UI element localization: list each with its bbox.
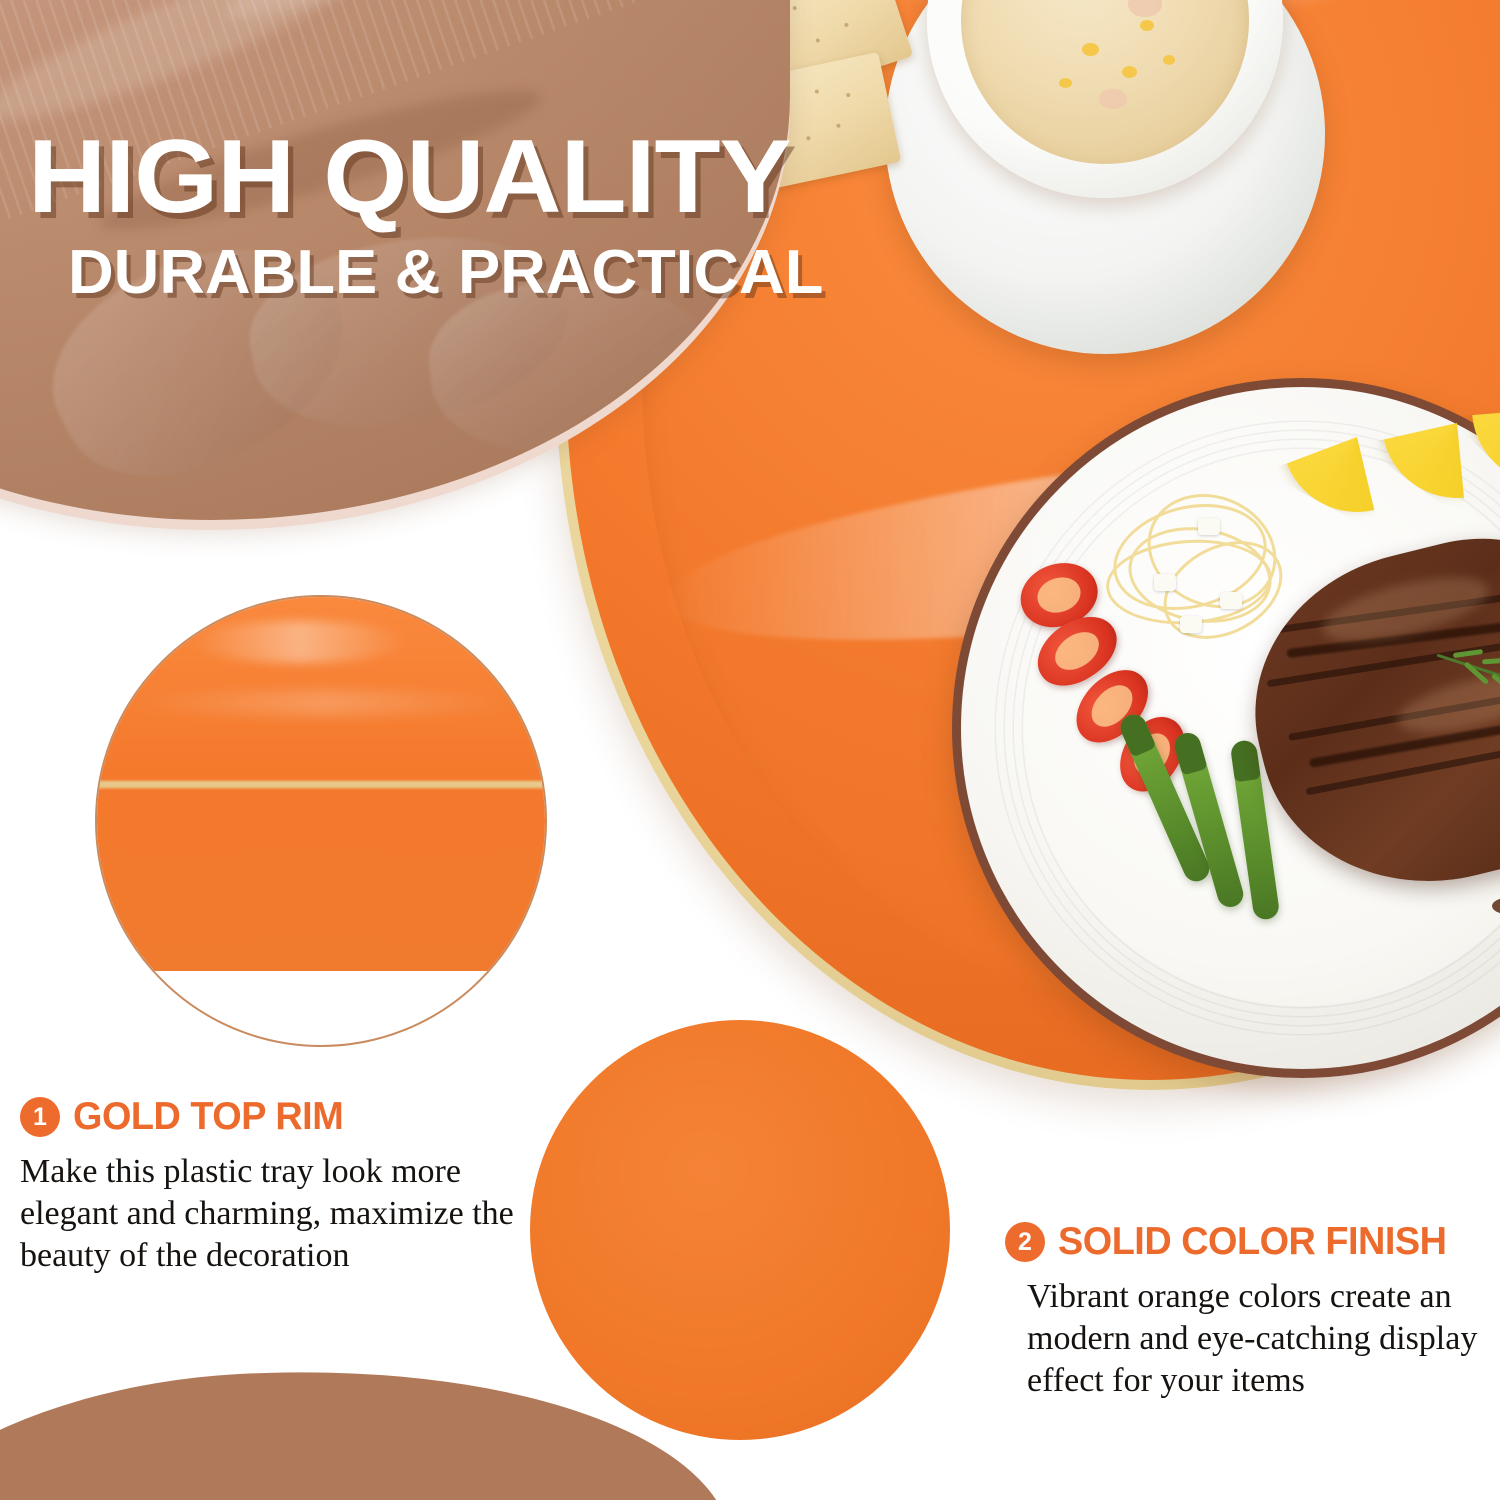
solid-color-swatch-circle [530,1020,950,1440]
feature-2-description: Vibrant orange colors create an modern a… [1027,1276,1493,1402]
corn-chowder [961,0,1249,164]
headline-secondary: DURABLE & PRACTICAL [68,242,904,304]
feature-1-header: 1 GOLD TOP RIM [20,1095,540,1139]
gold-rim-macro-photo [95,595,547,971]
headline-primary: HIGH QUALITY [28,128,922,228]
feature-2-number-badge: 2 [1005,1222,1045,1262]
feature-1-description: Make this plastic tray look more elegant… [20,1151,540,1277]
product-infographic: HIGH QUALITY DURABLE & PRACTICAL 1 GOLD … [0,0,1500,1500]
gold-rim-detail-circle [95,595,547,1047]
feature-callout-gold-top-rim: 1 GOLD TOP RIM Make this plastic tray lo… [20,1095,540,1277]
macro-highlight-secondary [125,690,521,717]
feature-1-title: GOLD TOP RIM [73,1095,343,1139]
steak-dinner-plate [952,378,1500,1078]
headline-block: HIGH QUALITY DURABLE & PRACTICAL [28,128,888,304]
feature-2-header: 2 SOLID COLOR FINISH [1005,1220,1493,1264]
soup-bowl-set [885,0,1325,354]
feature-2-title: SOLID COLOR FINISH [1058,1220,1446,1264]
feature-1-number-badge: 1 [20,1097,60,1137]
feature-callout-solid-color-finish: 2 SOLID COLOR FINISH Vibrant orange colo… [1005,1220,1493,1402]
macro-highlight [191,621,408,663]
